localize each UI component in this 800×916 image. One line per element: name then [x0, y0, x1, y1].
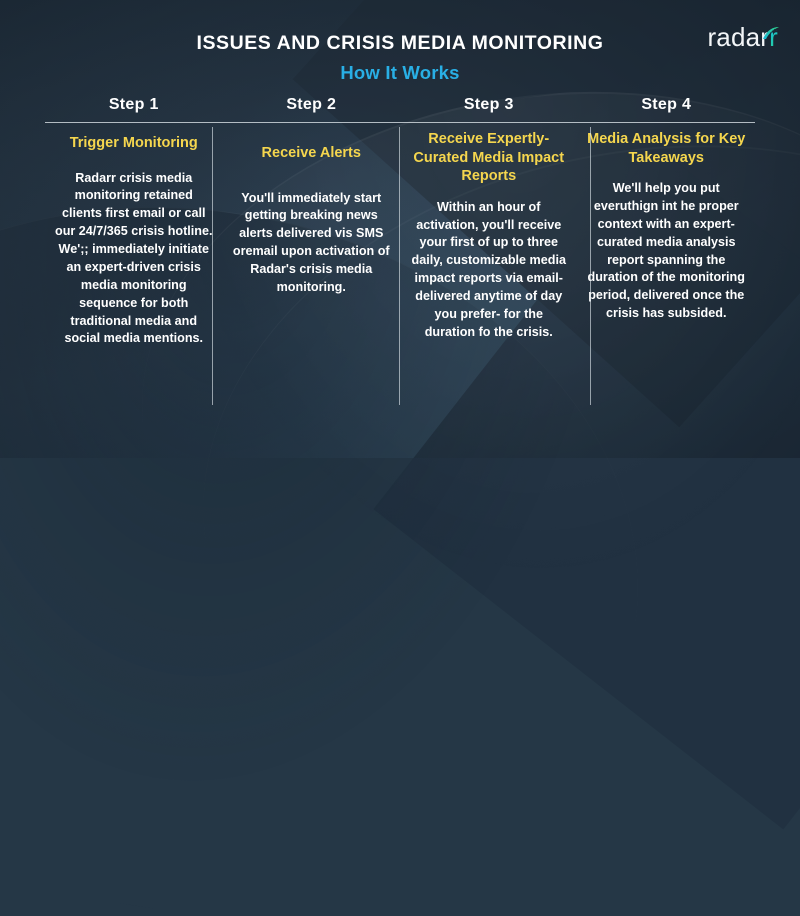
step-column-4: Media Analysis for Key Takeaways We'll h…	[578, 130, 756, 348]
step-column-2: Receive Alerts You'll immediately start …	[223, 130, 401, 348]
step-label-4: Step 4	[578, 96, 756, 114]
column-divider-2	[399, 127, 400, 405]
step-heading-2: Receive Alerts	[232, 130, 392, 163]
step-heading-4: Media Analysis for Key Takeaways	[587, 130, 747, 167]
step-column-1: Trigger Monitoring Radarr crisis media m…	[45, 130, 223, 348]
step-heading-3: Receive Expertly-Curated Media Impact Re…	[409, 130, 569, 186]
infographic-slide: radarr	[0, 0, 800, 458]
step-body-2: You'll immediately start getting breakin…	[232, 174, 392, 297]
step-body-1: Radarr crisis media monitoring retained …	[54, 164, 214, 349]
steps-container: Trigger Monitoring Radarr crisis media m…	[45, 130, 755, 348]
step-heading-1: Trigger Monitoring	[54, 130, 214, 153]
page-subtitle: How It Works	[0, 62, 800, 84]
page-title: ISSUES AND CRISIS MEDIA MONITORING	[0, 32, 800, 55]
step-label-2: Step 2	[223, 96, 401, 114]
column-divider-3	[590, 127, 591, 405]
header-divider-horizontal	[45, 122, 755, 123]
step-body-4: We'll help you put everuthign int he pro…	[587, 178, 747, 323]
step-label-3: Step 3	[400, 96, 578, 114]
step-column-3: Receive Expertly-Curated Media Impact Re…	[400, 130, 578, 348]
step-label-row: Step 1 Step 2 Step 3 Step 4	[45, 96, 755, 114]
column-divider-1	[212, 127, 213, 405]
step-label-1: Step 1	[45, 96, 223, 114]
step-body-3: Within an hour of activation, you'll rec…	[409, 197, 569, 342]
